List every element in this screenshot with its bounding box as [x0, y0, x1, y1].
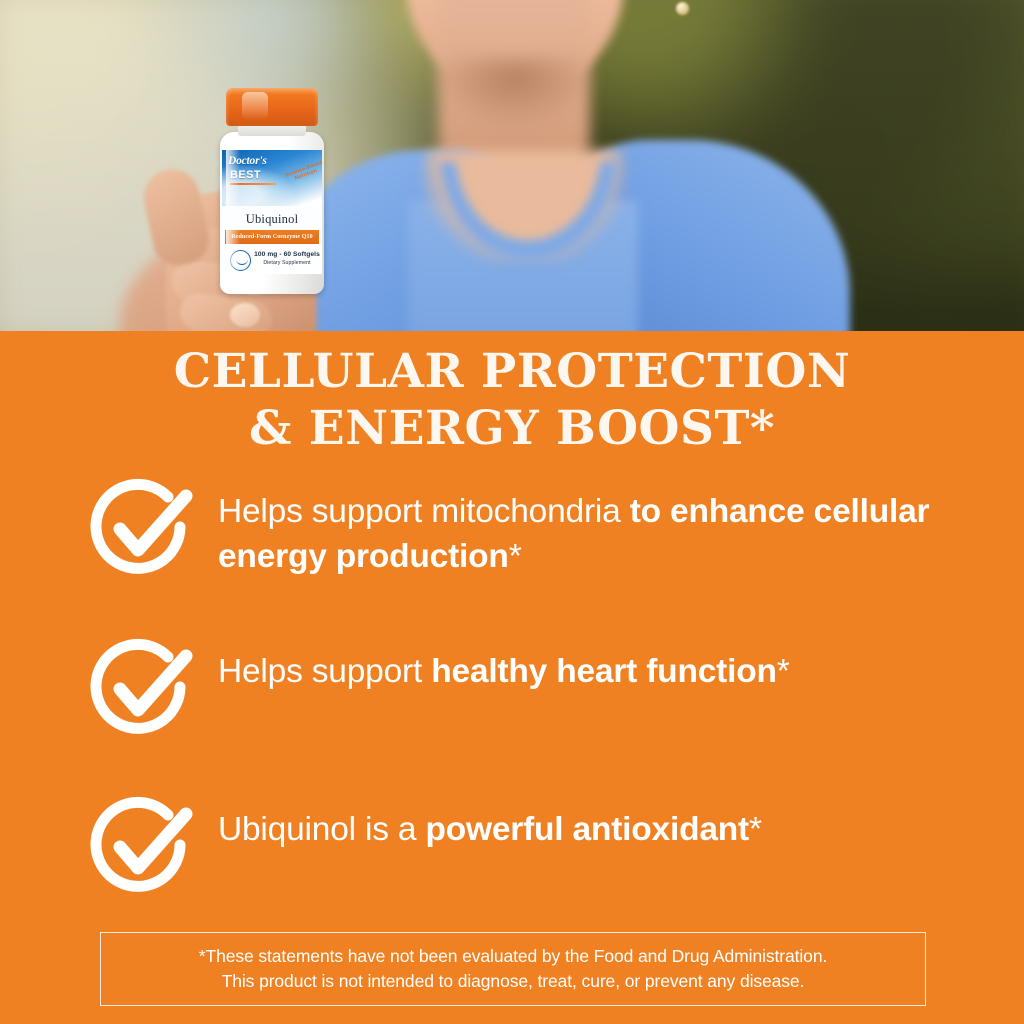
product-dosage: 100 mg - 60 Softgels [254, 251, 320, 258]
check-circle-icon [86, 471, 198, 583]
disclaimer-line-1: *These statements have not been evaluate… [199, 944, 827, 969]
benefit-star-3: * [749, 811, 762, 848]
benefit-lead-1: Helps support mitochondria [218, 493, 630, 530]
benefit-text-1: Helps support mitochondria to enhance ce… [218, 471, 978, 579]
benefit-emphasis-2: healthy heart function [431, 653, 777, 690]
product-descriptor: Reduced-Form Coenzyme Q10 [231, 234, 312, 240]
list-item: Helps support healthy heart function* [86, 631, 986, 743]
list-item: Ubiquinol is a powerful antioxidant* [86, 789, 986, 901]
tank-top-collar [430, 162, 626, 272]
product-category: Dietary Supplement [254, 260, 320, 266]
benefit-star-2: * [777, 653, 790, 690]
list-item: Helps support mitochondria to enhance ce… [86, 471, 986, 583]
benefit-emphasis-3: powerful antioxidant [425, 811, 749, 848]
benefit-text-3: Ubiquinol is a powerful antioxidant* [218, 789, 762, 852]
benefit-star-1: * [509, 538, 522, 575]
benefit-text-2: Helps support healthy heart function* [218, 631, 790, 694]
benefit-lead-2: Helps support [218, 653, 431, 690]
headline-line-1: CELLULAR PROTECTION [0, 343, 1024, 400]
disclaimer-line-2: This product is not intended to diagnose… [222, 969, 805, 994]
headline-line-2: & ENERGY BOOST* [0, 400, 1024, 457]
check-circle-icon [86, 789, 198, 901]
hero-photo: Doctor's BEST Science-Based Nutrition Ub… [0, 0, 1024, 331]
fda-disclaimer-box: *These statements have not been evaluate… [100, 932, 926, 1006]
benefits-panel: CELLULAR PROTECTION & ENERGY BOOST* Help… [0, 331, 1024, 1024]
chin-shadow [430, 58, 600, 128]
fingernail [230, 303, 260, 327]
product-bottle: Doctor's BEST Science-Based Nutrition Ub… [218, 88, 326, 294]
check-circle-icon [86, 631, 198, 743]
bottle-cap [226, 88, 318, 126]
page-headline: CELLULAR PROTECTION & ENERGY BOOST* [0, 343, 1024, 457]
benefit-lead-3: Ubiquinol is a [218, 811, 425, 848]
cap-highlight [242, 92, 268, 120]
earring [676, 2, 689, 15]
bottle-highlight [226, 136, 240, 286]
